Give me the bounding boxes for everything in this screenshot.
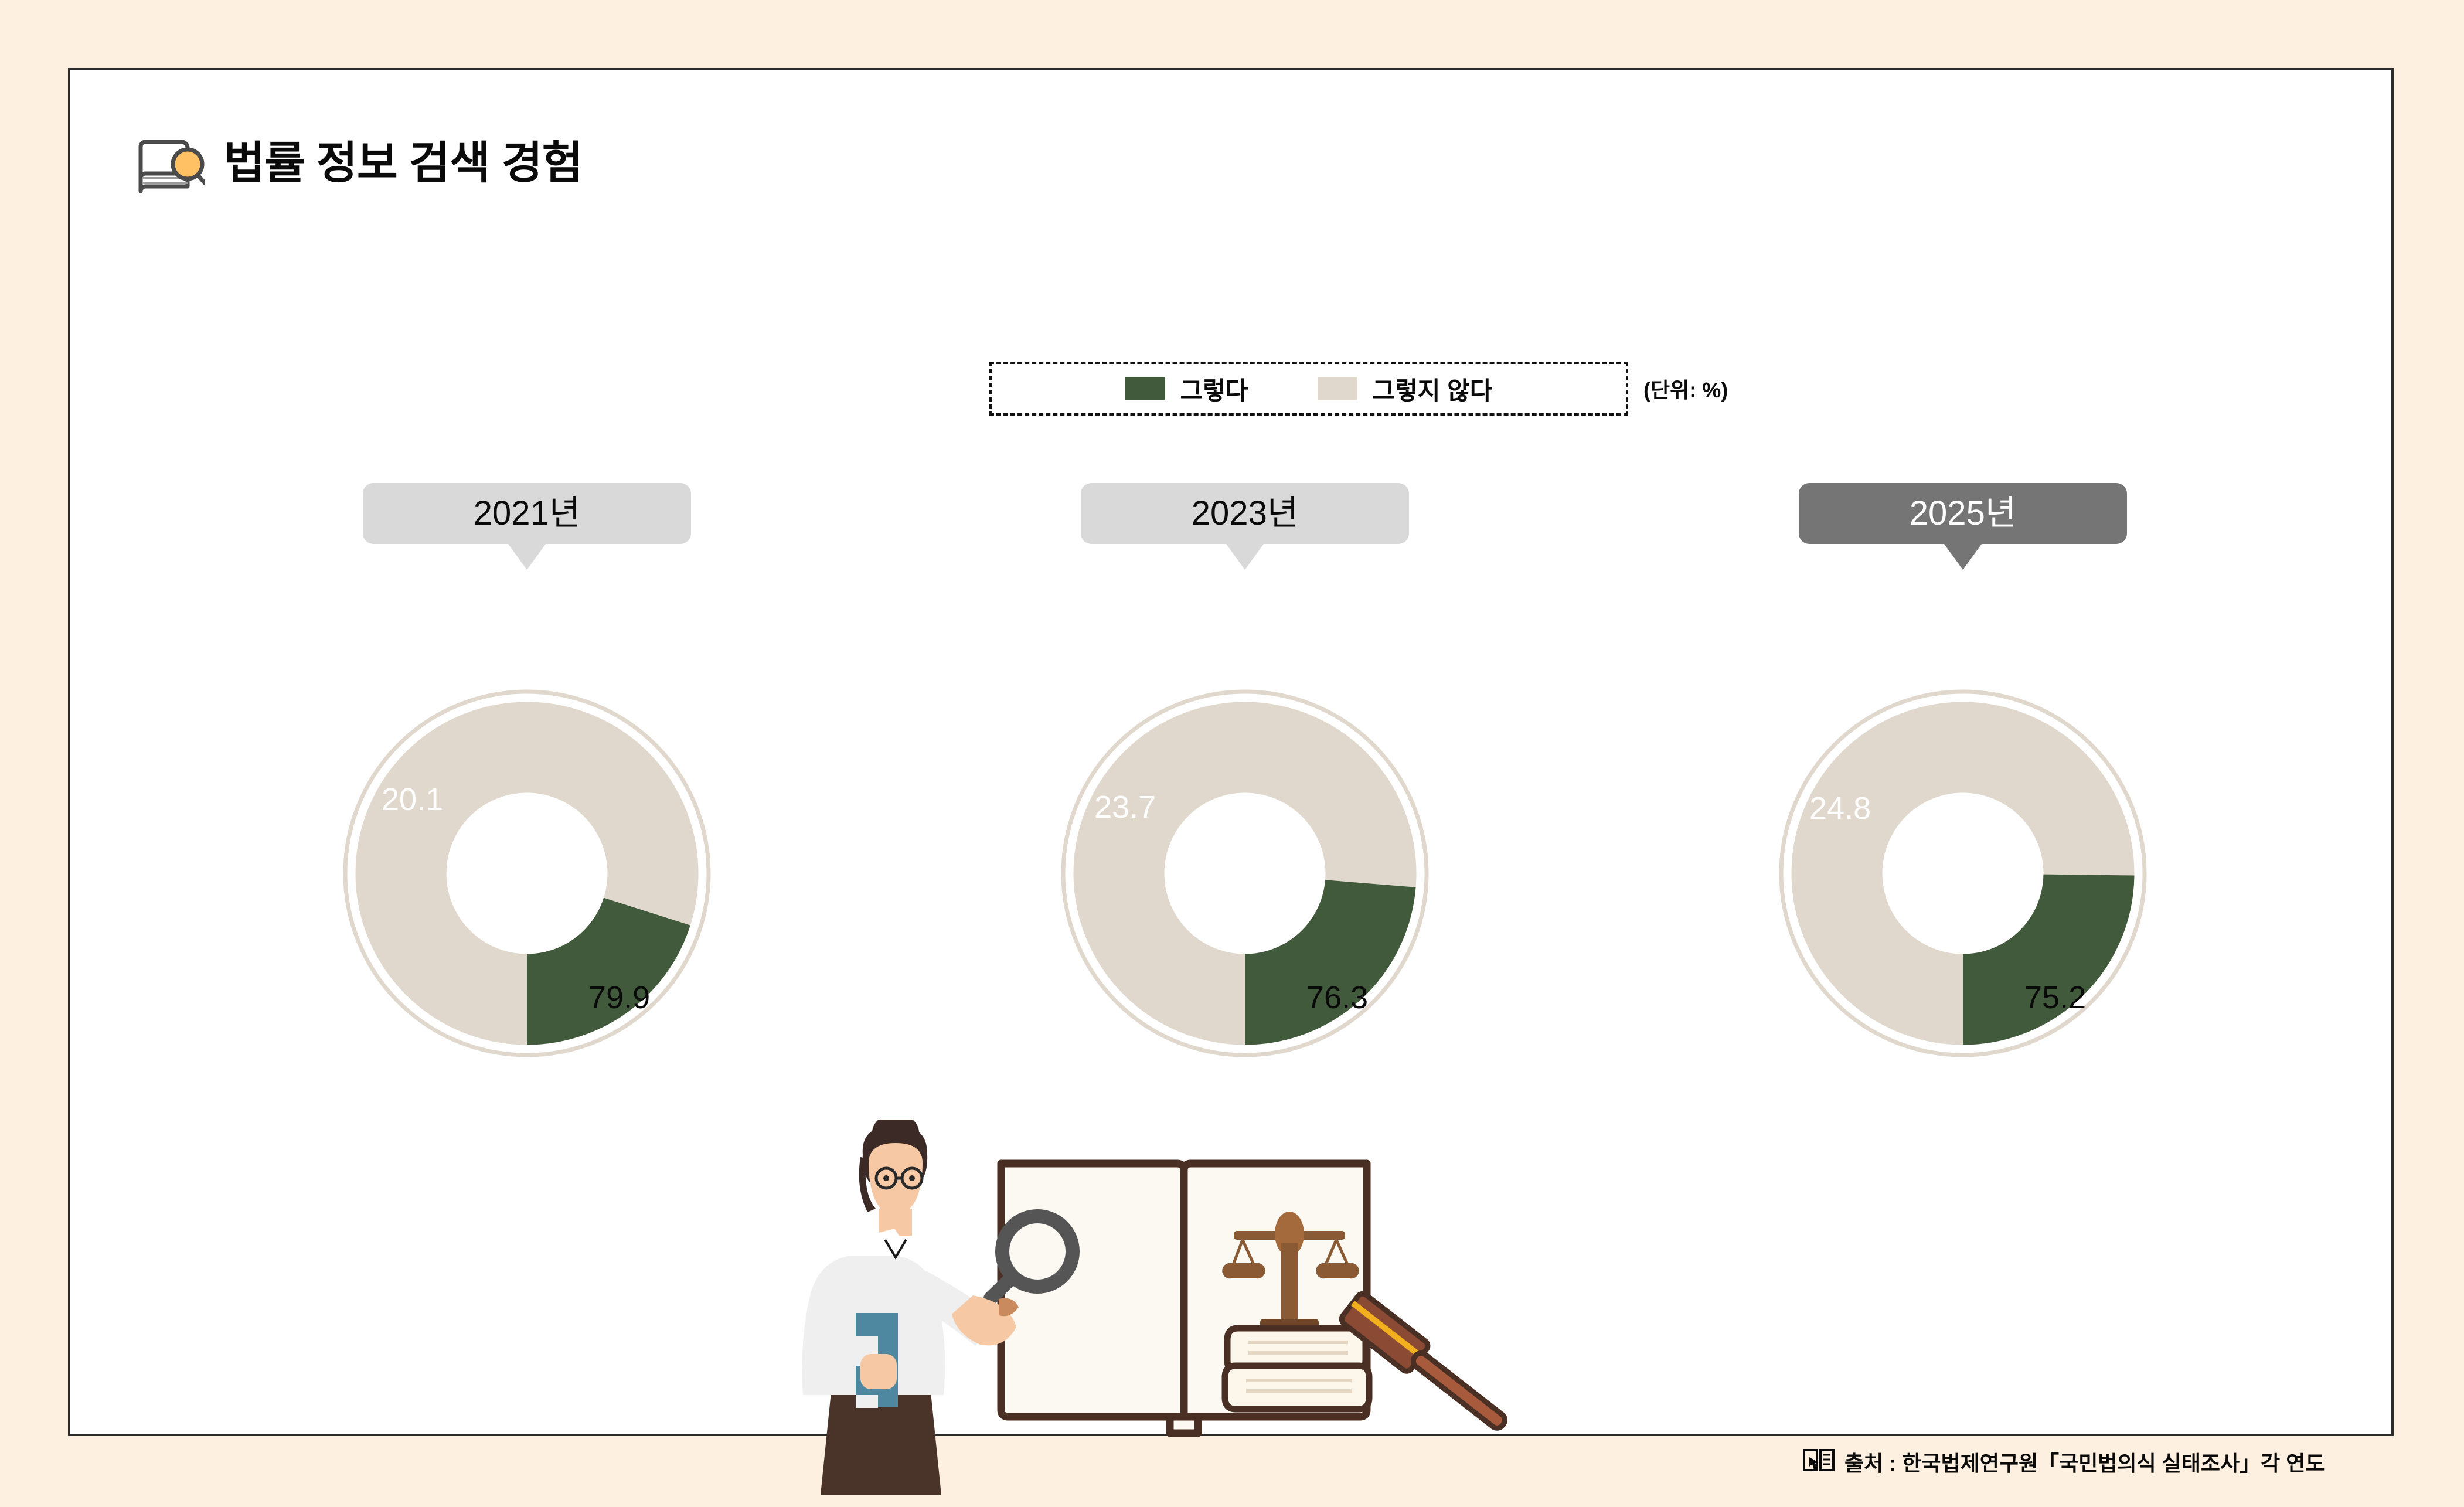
year-pill-2021[interactable]: 2021년 xyxy=(363,483,691,544)
person-skirt xyxy=(821,1392,941,1495)
value-yes-2021: 20.1 xyxy=(382,784,443,815)
source-row: 출처 : 한국법제연구원「국민법의식 실태조사」각 연도 xyxy=(1802,1447,2325,1477)
illustration-svg xyxy=(797,1120,1559,1506)
donut-chart-2025: 24.8 75.2 xyxy=(1775,686,2150,1061)
year-pill-2023[interactable]: 2023년 xyxy=(1081,483,1409,544)
legend: 그렇다 그렇지 않다 (단위: %) xyxy=(989,362,1728,416)
donut-svg-2023 xyxy=(1057,686,1432,1061)
legend-item-yes[interactable]: 그렇다 xyxy=(1125,371,1248,407)
title-row: 법률 정보 검색 경험 xyxy=(135,129,583,198)
infographic-page: 법률 정보 검색 경험 그렇다 그렇지 않다 (단위: %) 2021년 202… xyxy=(0,0,2464,1507)
value-no-2021: 79.9 xyxy=(588,982,650,1013)
pill-tail xyxy=(508,544,546,570)
page-title: 법률 정보 검색 경험 xyxy=(224,141,583,186)
value-no-2023: 76.3 xyxy=(1306,982,1368,1013)
legend-label-yes: 그렇다 xyxy=(1180,371,1248,407)
book-pointer-icon xyxy=(1802,1447,1835,1477)
legend-box: 그렇다 그렇지 않다 xyxy=(989,362,1628,416)
illustration-law-research xyxy=(797,1120,1559,1506)
year-label: 2021년 xyxy=(474,496,580,530)
donut-svg-2025 xyxy=(1775,686,2150,1061)
legend-item-no[interactable]: 그렇지 않다 xyxy=(1318,371,1493,407)
pill-tail xyxy=(1226,544,1264,570)
donut-svg-2021 xyxy=(339,686,714,1061)
pill-tail xyxy=(1944,544,1982,570)
legend-swatch-no xyxy=(1318,377,1357,400)
person-hand-left xyxy=(860,1354,897,1389)
year-label: 2023년 xyxy=(1192,496,1298,530)
donut-chart-2021: 20.1 79.9 xyxy=(339,686,714,1061)
value-yes-2025: 24.8 xyxy=(1809,792,1871,824)
stacked-books-icon xyxy=(1225,1328,1369,1409)
donut-chart-2023: 23.7 76.3 xyxy=(1057,686,1432,1061)
unit-note: (단위: %) xyxy=(1643,373,1728,404)
content-card: 법률 정보 검색 경험 그렇다 그렇지 않다 (단위: %) 2021년 202… xyxy=(68,68,2394,1436)
value-no-2025: 75.2 xyxy=(2024,982,2086,1013)
value-yes-2023: 23.7 xyxy=(1094,791,1156,823)
book-search-icon xyxy=(135,129,205,198)
source-text: 출처 : 한국법제연구원「국민법의식 실태조사」각 연도 xyxy=(1844,1447,2325,1477)
year-label: 2025년 xyxy=(1910,496,2016,530)
legend-label-no: 그렇지 않다 xyxy=(1373,371,1493,407)
year-pill-2025[interactable]: 2025년 xyxy=(1799,483,2127,544)
legend-swatch-yes xyxy=(1125,377,1165,400)
person-illustration xyxy=(802,1120,1019,1495)
